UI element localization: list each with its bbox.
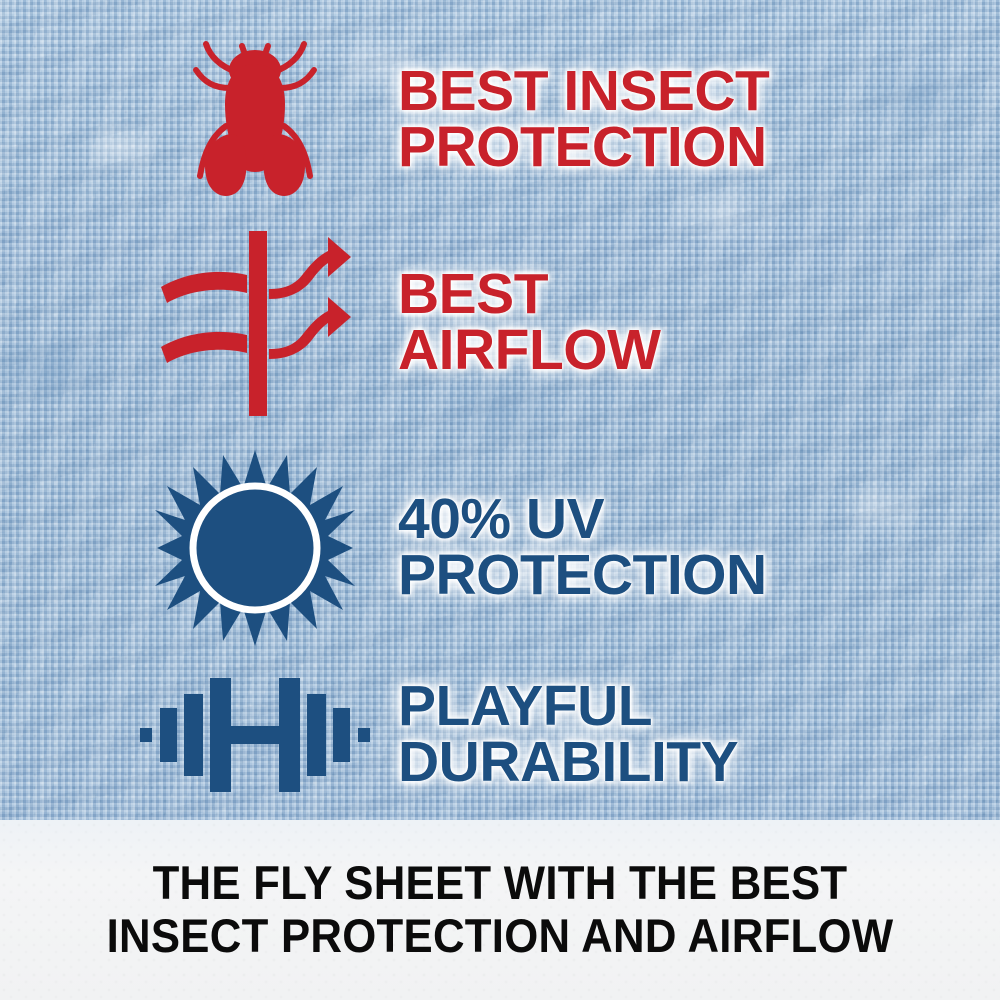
feature-icon-cell [130, 30, 380, 210]
dumbbell-icon [140, 670, 370, 800]
feature-icon-cell [130, 670, 380, 800]
caption-headline: THE FLY SHEET WITH THE BEST INSECT PROTE… [107, 857, 894, 962]
feature-icon-cell [130, 231, 380, 416]
feature-text-cell: PLAYFUL DURABILITY [380, 679, 950, 791]
feature-text-cell: BEST AIRFLOW [380, 267, 950, 379]
feature-list: BEST INSECT PROTECTION [0, 0, 1000, 820]
feature-label-airflow: BEST AIRFLOW [398, 267, 950, 379]
product-feature-poster: BEST INSECT PROTECTION [0, 0, 1000, 1000]
fly-icon [180, 30, 330, 210]
feature-icon-cell [130, 448, 380, 648]
feature-row-uv-protection: 40% UV PROTECTION [130, 443, 950, 653]
feature-label-uv-protection: 40% UV PROTECTION [398, 492, 950, 604]
caption-band: THE FLY SHEET WITH THE BEST INSECT PROTE… [0, 820, 1000, 1000]
feature-row-airflow: BEST AIRFLOW [130, 228, 950, 418]
feature-text-cell: 40% UV PROTECTION [380, 492, 950, 604]
feature-text-cell: BEST INSECT PROTECTION [380, 64, 950, 176]
feature-label-durability: PLAYFUL DURABILITY [398, 679, 950, 791]
airflow-icon [155, 231, 355, 416]
sun-icon [155, 448, 355, 648]
feature-row-durability: PLAYFUL DURABILITY [130, 655, 950, 815]
feature-row-insect-protection: BEST INSECT PROTECTION [130, 30, 950, 210]
feature-label-insect-protection: BEST INSECT PROTECTION [398, 64, 950, 176]
